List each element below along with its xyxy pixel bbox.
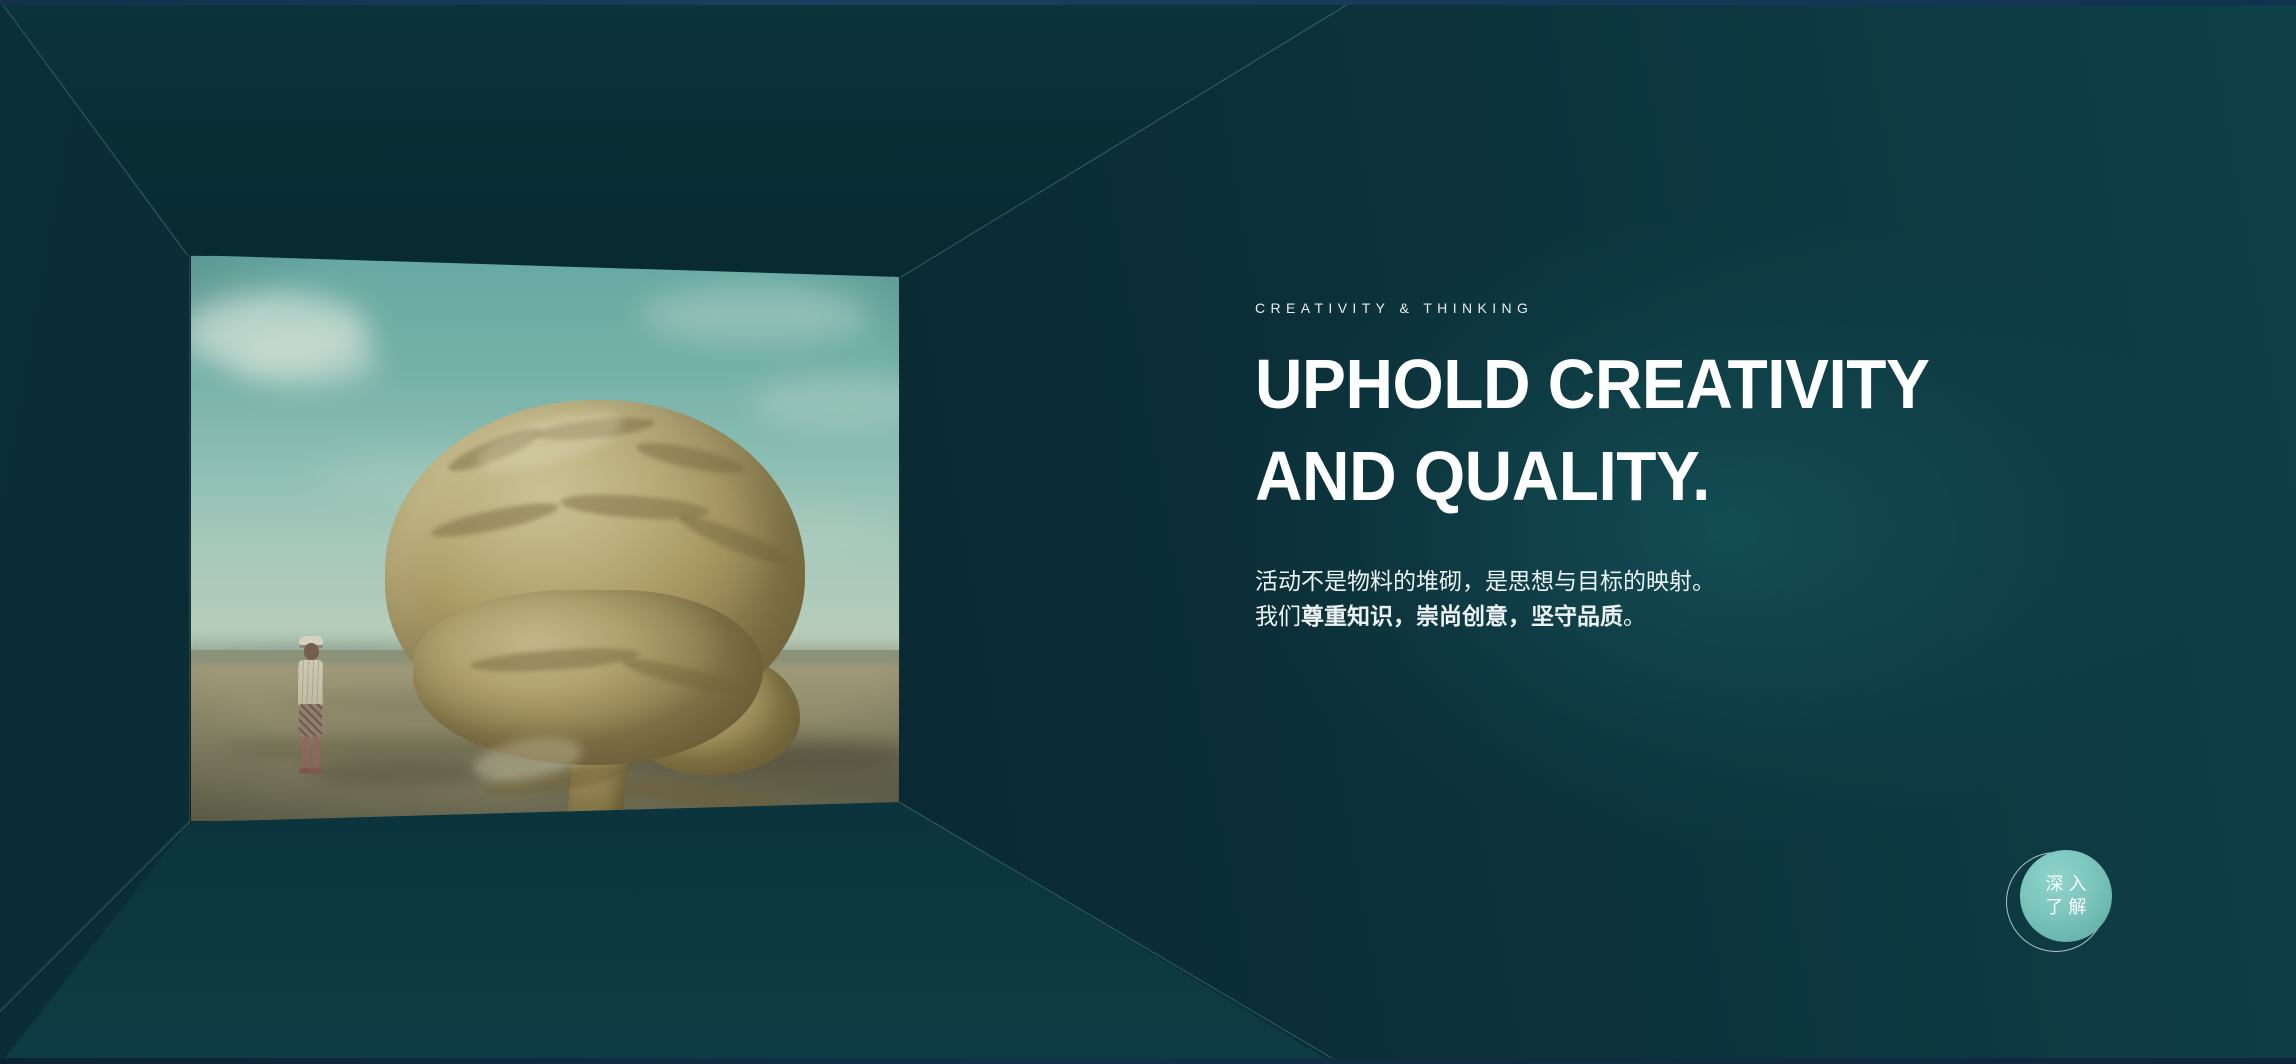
artwork-image — [190, 255, 900, 822]
cta-label-line-2: 了解 — [2041, 896, 2092, 919]
eyebrow-label: CREATIVITY & THINKING — [1255, 300, 2155, 316]
brain-fold — [676, 508, 795, 571]
giant-brain — [375, 400, 830, 800]
cloud — [230, 335, 380, 387]
standing-man — [293, 636, 327, 774]
top-trim-band — [0, 0, 2296, 5]
learn-more-button[interactable]: 深入 了解 — [2006, 850, 2116, 954]
cloud — [640, 285, 870, 345]
description-prefix: 我们 — [1255, 603, 1301, 629]
man-shirt — [298, 660, 323, 706]
description-emphasis: 尊重知识，崇尚创意，坚守品质 — [1301, 603, 1623, 629]
page-title: UPHOLD CREATIVITY AND QUALITY. — [1255, 338, 2101, 522]
man-foot — [310, 768, 323, 774]
artwork-panel[interactable] — [190, 255, 900, 822]
hero-description-line-1: 活动不是物料的堆砌，是思想与目标的映射。 — [1255, 564, 2155, 599]
man-leg — [302, 736, 309, 770]
man-head — [304, 643, 319, 660]
brain-highlight — [472, 400, 628, 484]
hero-copy: CREATIVITY & THINKING UPHOLD CREATIVITY … — [1255, 300, 2155, 634]
description-suffix: 。 — [1623, 603, 1646, 629]
hero-description-line-2: 我们尊重知识，崇尚创意，坚守品质。 — [1255, 599, 2155, 634]
hero-section: CREATIVITY & THINKING UPHOLD CREATIVITY … — [0, 0, 2296, 1064]
cta-label-line-1: 深入 — [2041, 873, 2092, 896]
bottom-trim-band — [0, 1058, 2296, 1064]
cta-disc[interactable]: 深入 了解 — [2020, 850, 2112, 942]
man-leg — [312, 736, 319, 770]
hero-description: 活动不是物料的堆砌，是思想与目标的映射。 我们尊重知识，崇尚创意，坚守品质。 — [1255, 564, 2155, 634]
brain-fold — [634, 437, 746, 479]
seam-inner-left — [189, 255, 190, 822]
brain-fold — [429, 497, 560, 544]
man-shorts — [299, 704, 322, 738]
